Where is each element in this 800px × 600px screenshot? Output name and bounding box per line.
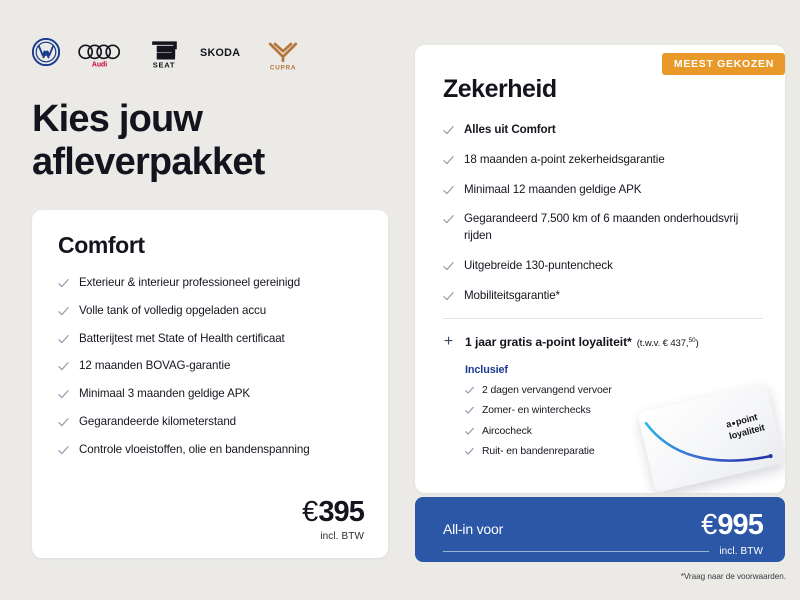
comfort-package-card[interactable]: Comfort Exterieur & interieur profession… [32, 210, 388, 558]
comfort-price: €395 [302, 498, 364, 527]
check-icon [443, 185, 454, 196]
list-item: Uitgebreide 130-puntencheck [443, 258, 763, 275]
check-icon [58, 306, 69, 317]
zekerheid-feature-list: Alles uit Comfort 18 maanden a-point zek… [443, 122, 763, 305]
allin-price-footer[interactable]: All-in voor €995 incl. BTW [415, 497, 785, 562]
loyalty-addon-label: 1 jaar gratis a-point loyaliteit* [465, 335, 632, 349]
list-item: Minimaal 12 maanden geldige APK [443, 182, 763, 199]
list-item-label: 18 maanden a-point zekerheidsgarantie [464, 152, 763, 169]
check-icon [465, 406, 474, 415]
list-item-label: Gegarandeerd 7.500 km of 6 maanden onder… [464, 211, 763, 245]
divider [443, 551, 709, 552]
list-item: Minimaal 3 maanden geldige APK [58, 386, 366, 403]
seat-logo: SEAT [146, 40, 182, 75]
svg-text:SEAT: SEAT [153, 61, 176, 70]
svg-text:SKODA: SKODA [200, 47, 240, 59]
list-item: 12 maanden BOVAG-garantie [58, 358, 366, 375]
loyalty-addon-value: (t.w.v. € 437,50) [637, 338, 699, 349]
comfort-price-block: €395 incl. BTW [302, 498, 364, 542]
allin-price-note: incl. BTW [719, 546, 763, 557]
currency-symbol: € [701, 509, 716, 541]
list-item-label: Controle vloeistoffen, olie en bandenspa… [79, 442, 366, 459]
list-item: Gegarandeerde kilometerstand [58, 414, 366, 431]
list-item-label: Uitgebreide 130-puntencheck [464, 258, 763, 275]
check-icon [443, 261, 454, 272]
zekerheid-title: Zekerheid [443, 75, 763, 104]
list-item-label: Aircocheck [482, 425, 532, 439]
check-icon [58, 445, 69, 456]
inclusief-title: Inclusief [465, 364, 763, 376]
check-icon [443, 155, 454, 166]
list-item-label: Minimaal 12 maanden geldige APK [464, 182, 763, 199]
list-item-label: 2 dagen vervangend vervoer [482, 384, 612, 398]
footnote: *Vraag naar de voorwaarden. [681, 572, 786, 581]
list-item: Controle vloeistoffen, olie en bandenspa… [58, 442, 366, 459]
price-value: 995 [717, 509, 763, 541]
inclusief-list: 2 dagen vervangend vervoer Zomer- en win… [465, 384, 763, 459]
list-item-label: Batterijtest met State of Health certifi… [79, 331, 366, 348]
loyalty-addon-row: + 1 jaar gratis a-point loyaliteit*(t.w.… [443, 333, 763, 351]
cupra-logo: CUPRA [264, 40, 302, 77]
check-icon [443, 214, 454, 225]
list-item-label: Zomer- en winterchecks [482, 404, 591, 418]
right-column: MEEST GEKOZEN Zekerheid Alles uit Comfor… [400, 0, 800, 600]
list-item: Exterieur & interieur professioneel gere… [58, 275, 366, 292]
check-icon [58, 361, 69, 372]
list-item: Mobiliteitsgarantie* [443, 288, 763, 305]
list-item: Alles uit Comfort [443, 122, 763, 139]
plus-icon: + [443, 334, 454, 350]
check-icon [465, 447, 474, 456]
list-item-label: 12 maanden BOVAG-garantie [79, 358, 366, 375]
check-icon [58, 278, 69, 289]
check-icon [58, 417, 69, 428]
list-item: Gegarandeerd 7.500 km of 6 maanden onder… [443, 211, 763, 245]
status-badge: MEEST GEKOZEN [662, 53, 785, 75]
zekerheid-package-card[interactable]: MEEST GEKOZEN Zekerheid Alles uit Comfor… [415, 45, 785, 493]
check-icon [443, 125, 454, 136]
comfort-price-note: incl. BTW [302, 531, 364, 542]
list-item: Batterijtest met State of Health certifi… [58, 331, 366, 348]
brand-logo-bar: Audi SEAT SKODA CUPRA [32, 38, 302, 72]
svg-text:CUPRA: CUPRA [270, 65, 296, 72]
currency-symbol: € [302, 496, 317, 528]
check-icon [58, 389, 69, 400]
list-item: Aircocheck [465, 425, 763, 439]
check-icon [465, 386, 474, 395]
list-item-label: Mobiliteitsgarantie* [464, 288, 763, 305]
left-column: Audi SEAT SKODA CUPRA [0, 0, 400, 600]
list-item-label: Alles uit Comfort [464, 122, 763, 139]
list-item: Volle tank of volledig opgeladen accu [58, 303, 366, 320]
list-item-label: Minimaal 3 maanden geldige APK [79, 386, 366, 403]
skoda-logo: SKODA [200, 44, 246, 65]
list-item: Zomer- en winterchecks [465, 404, 763, 418]
list-item: Ruit- en bandenreparatie [465, 445, 763, 459]
price-value: 395 [318, 496, 364, 528]
list-item-label: Ruit- en bandenreparatie [482, 445, 595, 459]
comfort-feature-list: Exterieur & interieur professioneel gere… [58, 275, 366, 459]
divider [443, 318, 763, 319]
allin-label: All-in voor [443, 521, 503, 537]
delivery-package-chooser: Audi SEAT SKODA CUPRA [0, 0, 800, 600]
allin-price: €995 [701, 511, 763, 540]
list-item-label: Exterieur & interieur professioneel gere… [79, 275, 366, 292]
comfort-title: Comfort [58, 232, 366, 259]
list-item: 18 maanden a-point zekerheidsgarantie [443, 152, 763, 169]
page-title: Kies jouw afleverpakket [32, 98, 372, 184]
list-item: 2 dagen vervangend vervoer [465, 384, 763, 398]
svg-text:Audi: Audi [92, 61, 107, 68]
list-item-label: Volle tank of volledig opgeladen accu [79, 303, 366, 320]
check-icon [58, 334, 69, 345]
check-icon [465, 427, 474, 436]
inclusief-block: Inclusief 2 dagen vervangend vervoer Zom… [465, 364, 763, 459]
list-item-label: Gegarandeerde kilometerstand [79, 414, 366, 431]
volkswagen-logo [32, 38, 60, 71]
audi-logo: Audi [78, 43, 128, 74]
check-icon [443, 291, 454, 302]
